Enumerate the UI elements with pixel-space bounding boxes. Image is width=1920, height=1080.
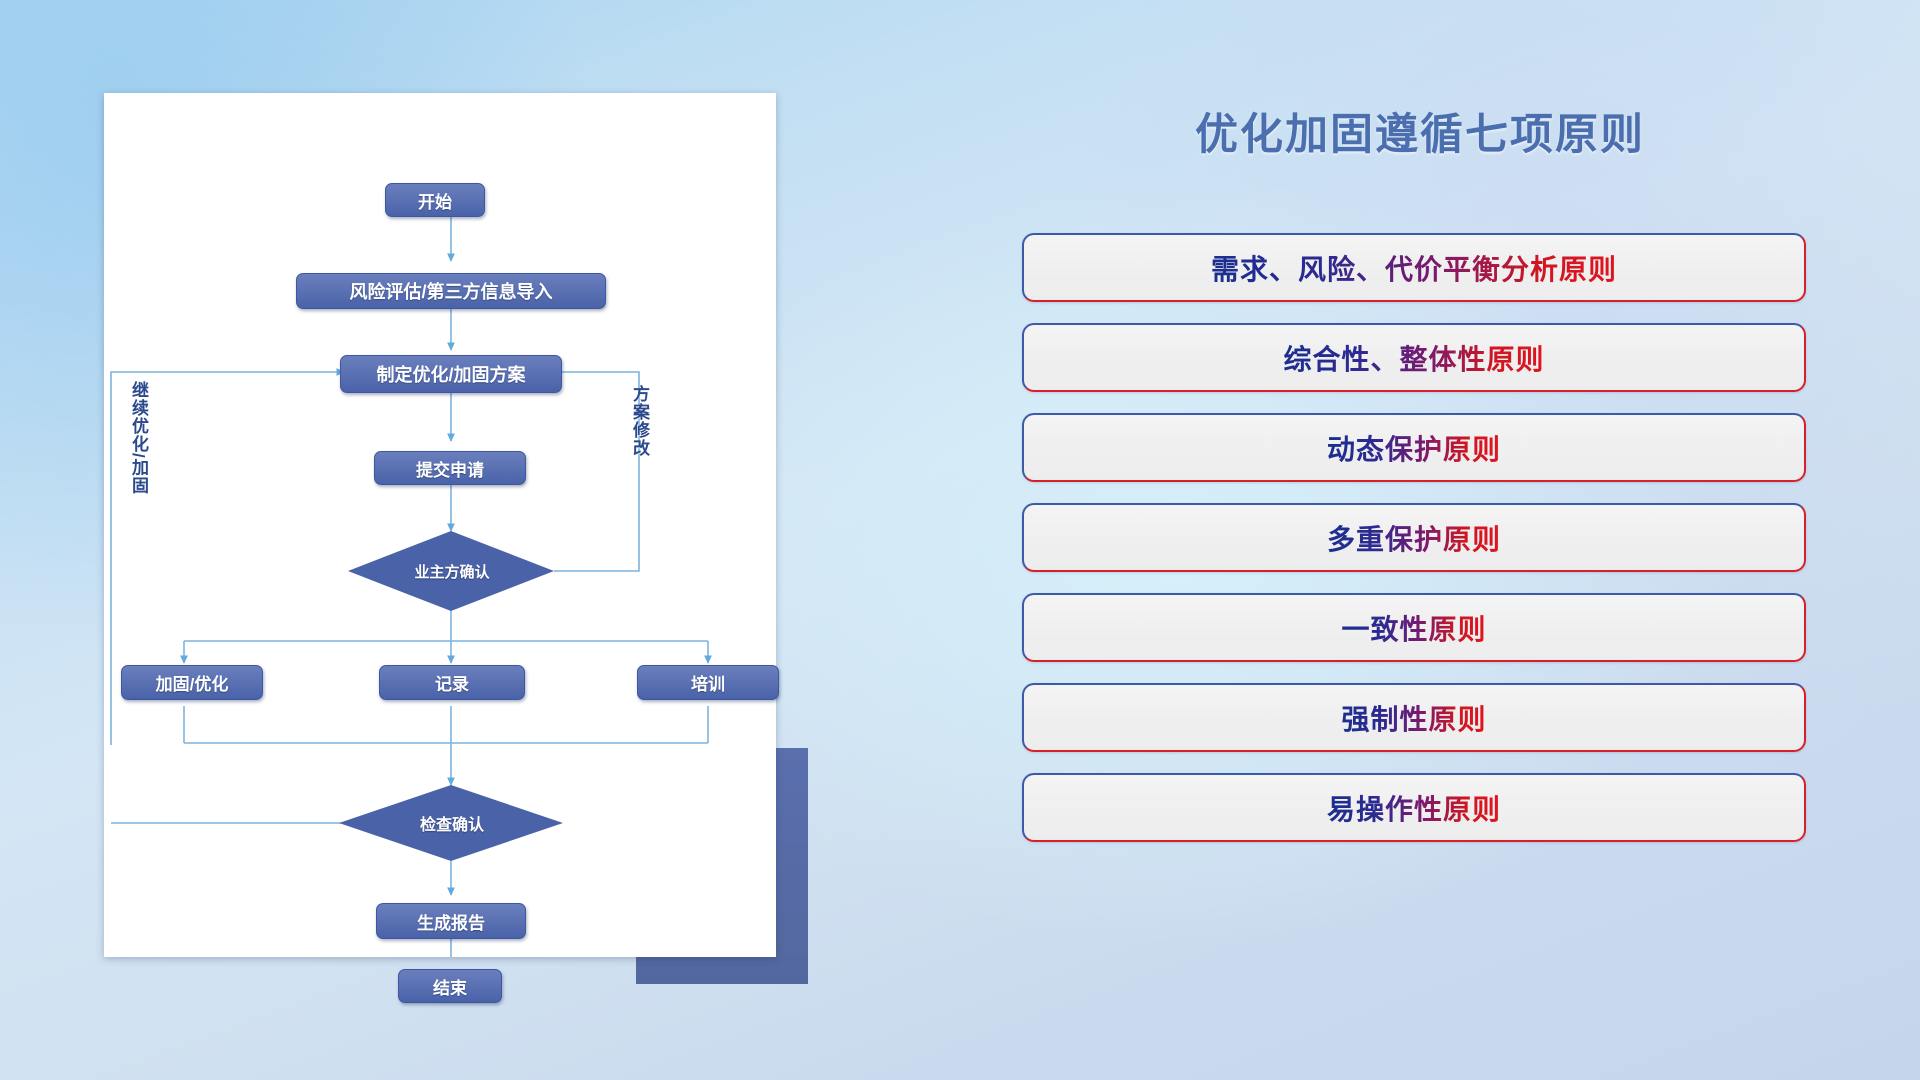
flow-node-report-label: 生成报告 bbox=[417, 909, 485, 934]
flow-node-end[interactable]: 结束 bbox=[398, 969, 502, 1003]
flow-node-report[interactable]: 生成报告 bbox=[376, 903, 526, 939]
flow-node-risk-assessment[interactable]: 风险评估/第三方信息导入 bbox=[296, 273, 606, 309]
principle-label: 综合性、整体性原则 bbox=[1283, 338, 1544, 378]
flow-node-reinforce-label: 加固/优化 bbox=[156, 670, 229, 695]
flow-node-submit[interactable]: 提交申请 bbox=[374, 451, 526, 485]
flow-node-training[interactable]: 培训 bbox=[637, 665, 779, 700]
principle-label: 动态保护原则 bbox=[1327, 428, 1501, 468]
flow-node-check-confirm[interactable]: 检查确认 bbox=[366, 808, 538, 838]
flow-node-owner-confirm-label: 业主方确认 bbox=[414, 561, 489, 582]
flow-node-start-label: 开始 bbox=[418, 188, 452, 213]
principle-label: 多重保护原则 bbox=[1327, 518, 1501, 558]
flow-node-submit-label: 提交申请 bbox=[416, 456, 484, 481]
flowchart-card: 开始 风险评估/第三方信息导入 制定优化/加固方案 提交申请 业主方确认 加固/… bbox=[104, 93, 776, 957]
flow-node-plan[interactable]: 制定优化/加固方案 bbox=[340, 355, 562, 393]
principle-label: 需求、风险、代价平衡分析原则 bbox=[1211, 248, 1617, 288]
edge-label-continue-optimize: 继续优化/加固 bbox=[126, 381, 151, 495]
slide-background: 开始 风险评估/第三方信息导入 制定优化/加固方案 提交申请 业主方确认 加固/… bbox=[0, 0, 1920, 1080]
principle-label: 一致性原则 bbox=[1341, 608, 1486, 648]
principle-item[interactable]: 综合性、整体性原则 bbox=[1022, 323, 1806, 392]
principles-list: 需求、风险、代价平衡分析原则 综合性、整体性原则 动态保护原则 多重保护原则 一… bbox=[1022, 233, 1806, 863]
flow-node-plan-label: 制定优化/加固方案 bbox=[376, 361, 525, 387]
flow-node-record-label: 记录 bbox=[435, 670, 469, 695]
flow-node-owner-confirm[interactable]: 业主方确认 bbox=[362, 556, 542, 586]
flow-node-record[interactable]: 记录 bbox=[379, 665, 525, 700]
flow-node-training-label: 培训 bbox=[691, 670, 725, 695]
principle-item[interactable]: 需求、风险、代价平衡分析原则 bbox=[1022, 233, 1806, 302]
flow-node-end-label: 结束 bbox=[433, 974, 467, 999]
flow-node-reinforce[interactable]: 加固/优化 bbox=[121, 665, 263, 700]
principle-item[interactable]: 强制性原则 bbox=[1022, 683, 1806, 752]
flow-node-check-confirm-label: 检查确认 bbox=[420, 811, 484, 835]
principle-item[interactable]: 一致性原则 bbox=[1022, 593, 1806, 662]
principle-label: 易操作性原则 bbox=[1327, 788, 1501, 828]
flow-node-risk-assessment-label: 风险评估/第三方信息导入 bbox=[350, 278, 553, 304]
principle-item[interactable]: 多重保护原则 bbox=[1022, 503, 1806, 572]
principle-label: 强制性原则 bbox=[1341, 698, 1486, 738]
principle-item[interactable]: 动态保护原则 bbox=[1022, 413, 1806, 482]
page-title: 优化加固遵循七项原则 bbox=[960, 100, 1880, 162]
principle-item[interactable]: 易操作性原则 bbox=[1022, 773, 1806, 842]
edge-label-plan-revision: 方案修改 bbox=[627, 385, 652, 457]
flow-node-start[interactable]: 开始 bbox=[385, 183, 485, 217]
